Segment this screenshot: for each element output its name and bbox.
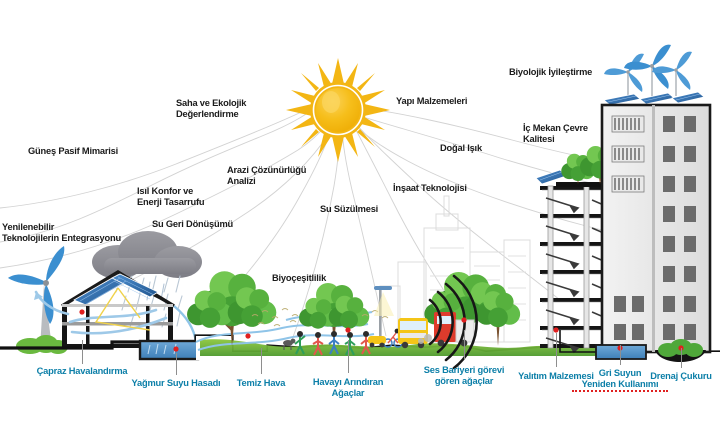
leader-line-capraz-havalandirma: [82, 340, 83, 364]
sun-icon: [286, 58, 390, 162]
infographic-canvas: Güneş Pasif MimarisiYenilenebilir Teknol…: [0, 0, 720, 427]
shrub: [16, 335, 68, 354]
label-arazi-cozunurlugu: Arazi Çözünürlüğü Analizi: [227, 165, 332, 187]
label-saha-ve-ekolojik: Saha ve Ekolojik Değerlendirme: [176, 98, 281, 120]
leader-line-yalitim-malzemesi: [556, 333, 557, 367]
car-icon: [368, 336, 386, 347]
wind-turbine-icon: [8, 246, 68, 354]
label-ic-mekan-cevre-kalitesi: İç Mekan Çevre Kalitesi: [523, 123, 623, 145]
label-biyocesitlilik: Biyoçeşitlilik: [272, 273, 352, 284]
label-dogal-isik: Doğal Işık: [440, 143, 510, 154]
leader-line-temiz-hava: [261, 348, 262, 374]
label-isil-konfor: Isıl Konfor ve Enerji Tasarrufu: [137, 186, 232, 208]
label-su-geri-donusumu: Su Geri Dönüşümü: [152, 219, 262, 230]
rainwater-harvest-basin: [140, 341, 198, 359]
leader-line-gri-suyun-yeniden: [620, 345, 621, 365]
label-capraz-havalandirma: Çapraz Havalandırma: [22, 366, 142, 377]
label-insaat-teknolojisi: İnşaat Teknolojisi: [393, 183, 493, 194]
label-gunes-pasif-mimarisi: Güneş Pasif Mimarisi: [28, 146, 148, 157]
leader-line-drenaj-cukuru: [681, 348, 682, 368]
rooftop-solar-panels: [604, 92, 704, 105]
label-drenaj-cukuru: Drenaj Çukuru: [638, 371, 720, 382]
leader-line-havayi-arindiran-agaclar: [348, 340, 349, 373]
leader-line-yagmur-suyu-hasadi: [176, 353, 177, 375]
label-su-suzulmesi: Su Süzülmesi: [320, 204, 405, 215]
label-yagmur-suyu-hasadi: Yağmur Suyu Hasadı: [121, 378, 231, 389]
label-havayi-arindiran-agaclar: Havayı Arındıran Ağaçlar: [298, 377, 398, 399]
city-bus-icon: [398, 318, 428, 348]
label-biyolojik-iyilestirme: Biyolojik İyileştirme: [509, 67, 624, 78]
high-rise-tower: [602, 45, 710, 352]
leader-line-ses-bariyeri-agaclar: [464, 330, 465, 360]
label-ses-bariyeri-agaclar: Ses Bariyeri görevi gören ağaçlar: [409, 365, 519, 387]
label-yenilenebilir: Yenilenebilir Teknolojilerin Entegrasyon…: [2, 222, 122, 244]
label-temiz-hava: Temiz Hava: [221, 378, 301, 389]
label-yapi-malzemeleri: Yapı Malzemeleri: [396, 96, 496, 107]
